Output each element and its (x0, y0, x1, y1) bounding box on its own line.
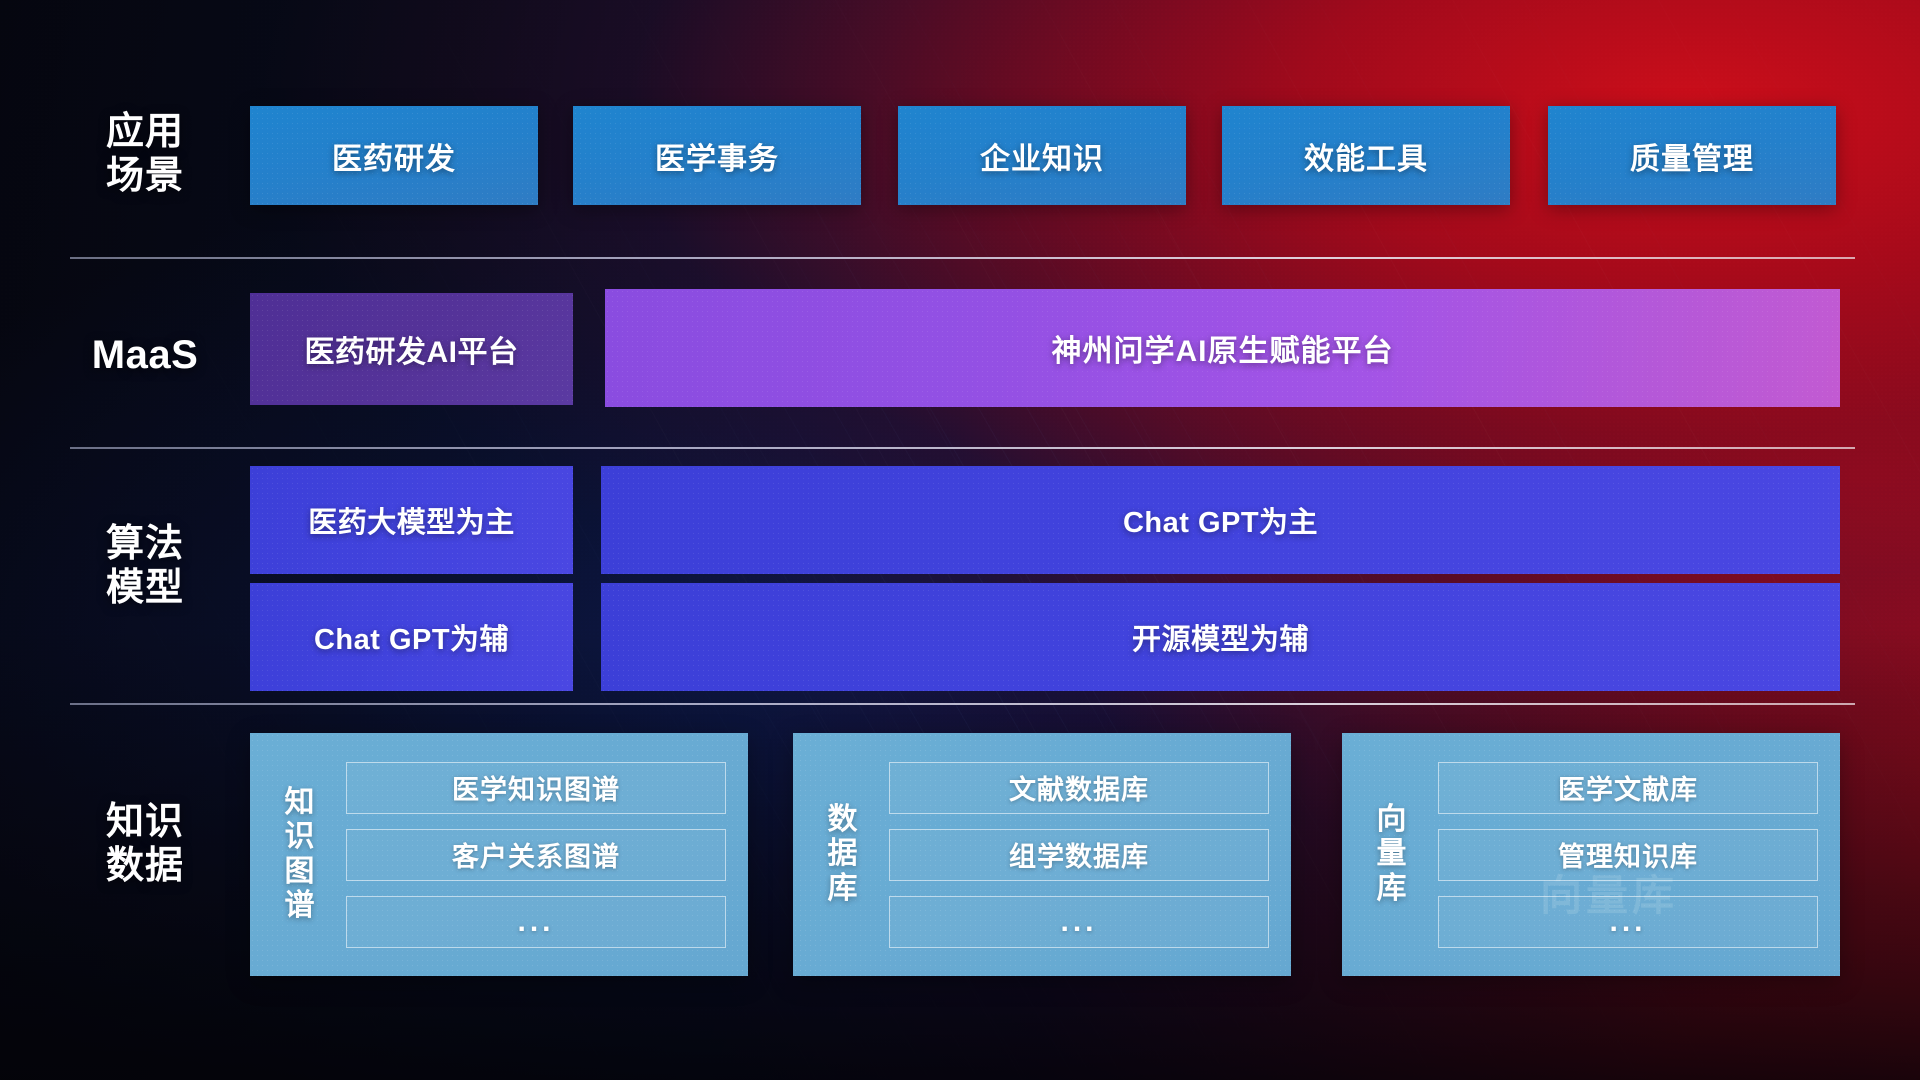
knowledge-panel-title-char: 库 (1356, 872, 1428, 906)
app-box-1[interactable]: 医学事务 (573, 106, 861, 205)
row-label-line: 算法 (70, 522, 220, 566)
knowledge-item[interactable]: 管理知识库 (1438, 829, 1818, 881)
algorithm-box-label: 开源模型为辅 (1132, 616, 1309, 658)
knowledge-item-list: 医学知识图谱 客户关系图谱 ... (336, 762, 748, 948)
knowledge-panel-title: 知 识 图 谱 (250, 786, 336, 923)
row-label-line: 场景 (70, 154, 220, 198)
knowledge-panel-title-char: 向 (1356, 803, 1428, 837)
row-label-maas: MaaS (70, 332, 220, 378)
row-label-line: 模型 (70, 566, 220, 610)
algorithm-box-primary-pharma-model[interactable]: 医药大模型为主 (250, 466, 573, 574)
row-divider-3 (70, 703, 1855, 705)
row-label-algorithm: 算法 模型 (70, 522, 220, 610)
app-box-label: 效能工具 (1304, 134, 1428, 178)
row-divider-1 (70, 257, 1855, 259)
knowledge-panel-title-char: 据 (807, 837, 879, 871)
knowledge-item[interactable]: 医学文献库 (1438, 762, 1818, 814)
knowledge-item[interactable]: 文献数据库 (889, 762, 1269, 814)
knowledge-item-list: 医学文献库 管理知识库 ... (1428, 762, 1840, 948)
algorithm-box-label: 医药大模型为主 (308, 499, 515, 541)
knowledge-panel-title-char: 知 (264, 786, 336, 820)
knowledge-panel-database[interactable]: 数 据 库 文献数据库 组学数据库 ... (793, 733, 1291, 976)
algorithm-box-secondary-chatgpt[interactable]: Chat GPT为辅 (250, 583, 573, 691)
knowledge-item[interactable]: 客户关系图谱 (346, 829, 726, 881)
slide-canvas: 应用 场景 医药研发 医学事务 企业知识 效能工具 质量管理 MaaS 医药研发… (0, 0, 1920, 1080)
app-box-label: 企业知识 (980, 134, 1104, 178)
knowledge-panel-title: 向 量 库 (1342, 803, 1428, 906)
algorithm-box-secondary-opensource[interactable]: 开源模型为辅 (601, 583, 1840, 691)
row-label-line: 数据 (70, 844, 220, 888)
knowledge-item[interactable]: 组学数据库 (889, 829, 1269, 881)
maas-box-pharma-ai-platform[interactable]: 医药研发AI平台 (250, 293, 573, 405)
app-box-0[interactable]: 医药研发 (250, 106, 538, 205)
algorithm-box-primary-chatgpt[interactable]: Chat GPT为主 (601, 466, 1840, 574)
knowledge-panel-title-char: 识 (264, 820, 336, 854)
app-box-2[interactable]: 企业知识 (898, 106, 1186, 205)
row-label-knowledge: 知识 数据 (70, 800, 220, 888)
row-divider-2 (70, 447, 1855, 449)
row-label-line: 知识 (70, 800, 220, 844)
knowledge-panel-title-char: 图 (264, 855, 336, 889)
knowledge-panel-vector-store[interactable]: 向 量 库 医学文献库 管理知识库 ... (1342, 733, 1840, 976)
app-box-label: 医药研发 (332, 134, 456, 178)
row-label-application: 应用 场景 (70, 110, 220, 198)
algorithm-box-label: Chat GPT为主 (1123, 499, 1318, 541)
knowledge-panel-knowledge-graph[interactable]: 知 识 图 谱 医学知识图谱 客户关系图谱 ... (250, 733, 748, 976)
knowledge-item[interactable]: 医学知识图谱 (346, 762, 726, 814)
maas-box-shenzhou-wenxue-platform[interactable]: 神州问学AI原生赋能平台 (605, 289, 1840, 407)
app-box-label: 质量管理 (1630, 134, 1754, 178)
knowledge-item-more[interactable]: ... (1438, 896, 1818, 948)
knowledge-item-list: 文献数据库 组学数据库 ... (879, 762, 1291, 948)
knowledge-panel-title-char: 数 (807, 803, 879, 837)
architecture-diagram: 应用 场景 医药研发 医学事务 企业知识 效能工具 质量管理 MaaS 医药研发… (0, 0, 1920, 1080)
knowledge-item-more[interactable]: ... (346, 896, 726, 948)
knowledge-panel-title-char: 库 (807, 872, 879, 906)
row-label-line: MaaS (70, 332, 220, 378)
app-box-label: 医学事务 (655, 134, 779, 178)
row-label-line: 应用 (70, 110, 220, 154)
knowledge-panel-title: 数 据 库 (793, 803, 879, 906)
algorithm-box-label: Chat GPT为辅 (314, 616, 509, 658)
app-box-3[interactable]: 效能工具 (1222, 106, 1510, 205)
knowledge-panel-title-char: 量 (1356, 837, 1428, 871)
knowledge-item-more[interactable]: ... (889, 896, 1269, 948)
knowledge-panel-title-char: 谱 (264, 889, 336, 923)
app-box-4[interactable]: 质量管理 (1548, 106, 1836, 205)
maas-box-label: 医药研发AI平台 (305, 327, 519, 371)
maas-box-label: 神州问学AI原生赋能平台 (1052, 326, 1394, 370)
